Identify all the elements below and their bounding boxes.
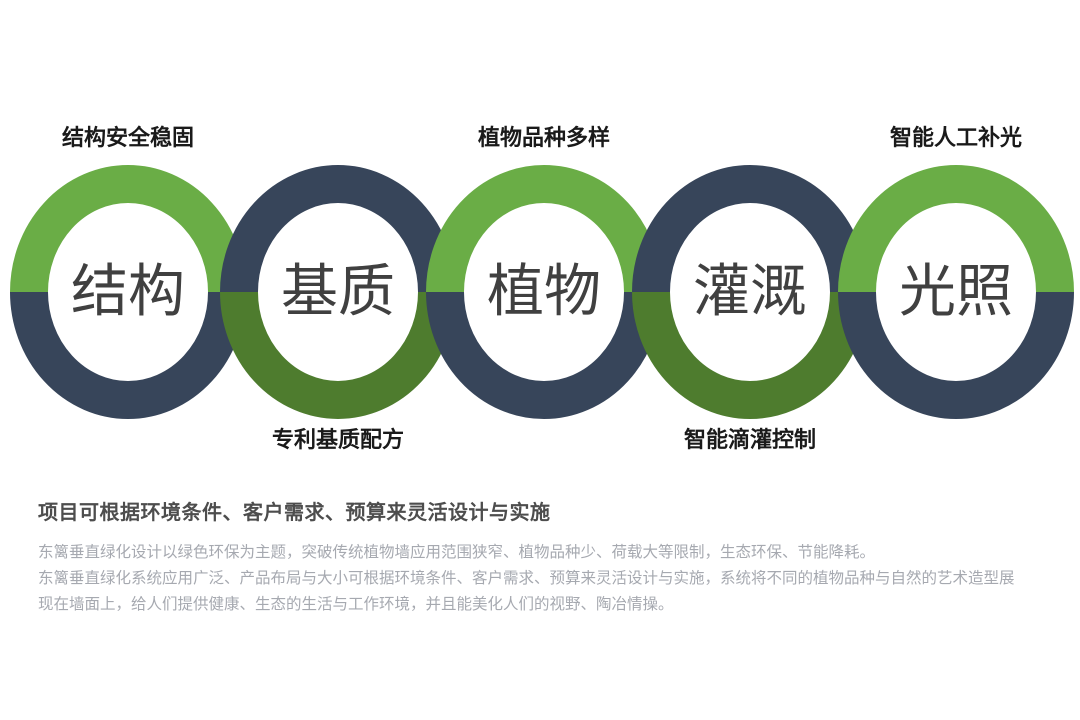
- ring-caption-irrigation: 智能滴灌控制: [684, 422, 816, 454]
- ring-plants-inner-disc: [464, 203, 624, 381]
- ring-caption-structure: 结构安全稳固: [62, 120, 194, 152]
- ring-caption-substrate: 专利基质配方: [272, 422, 404, 454]
- ring-caption-light: 智能人工补光: [890, 120, 1022, 152]
- description-paragraph-1: 东篱垂直绿化设计以绿色环保为主题，突破传统植物墙应用范围狭窄、植物品种少、荷载大…: [38, 539, 1048, 565]
- description-line: 现在墙面上，给人们提供健康、生态的生活与工作环境，并且能美化人们的视野、陶冶情操…: [38, 591, 1048, 617]
- ring-light: [857, 184, 1055, 400]
- ring-irrigation-inner-disc: [670, 203, 830, 381]
- ring-diagram: 结构 基质 植物 灌溉 光照 结构安全稳固 植物品种多样 智能人工补光 专利基质…: [0, 0, 1080, 470]
- description-line: 东篱垂直绿化设计以绿色环保为主题，突破传统植物墙应用范围狭窄、植物品种少、荷载大…: [38, 539, 1048, 565]
- ring-caption-plants: 植物品种多样: [478, 120, 610, 152]
- description-heading: 项目可根据环境条件、客户需求、预算来灵活设计与实施: [38, 496, 1048, 525]
- ring-structure: [29, 184, 227, 400]
- description-paragraph-2: 东篱垂直绿化系统应用广泛、产品布局与大小可根据环境条件、客户需求、预算来灵活设计…: [38, 565, 1048, 617]
- description-line: 东篱垂直绿化系统应用广泛、产品布局与大小可根据环境条件、客户需求、预算来灵活设计…: [38, 565, 1048, 591]
- ring-substrate: [239, 184, 437, 400]
- ring-plants: [445, 184, 643, 400]
- ring-diagram-svg: [0, 0, 1080, 470]
- ring-light-inner-disc: [876, 203, 1036, 381]
- ring-irrigation: [651, 184, 849, 400]
- description-text-block: 项目可根据环境条件、客户需求、预算来灵活设计与实施 东篱垂直绿化设计以绿色环保为…: [38, 496, 1048, 617]
- ring-structure-inner-disc: [48, 203, 208, 381]
- ring-substrate-inner-disc: [258, 203, 418, 381]
